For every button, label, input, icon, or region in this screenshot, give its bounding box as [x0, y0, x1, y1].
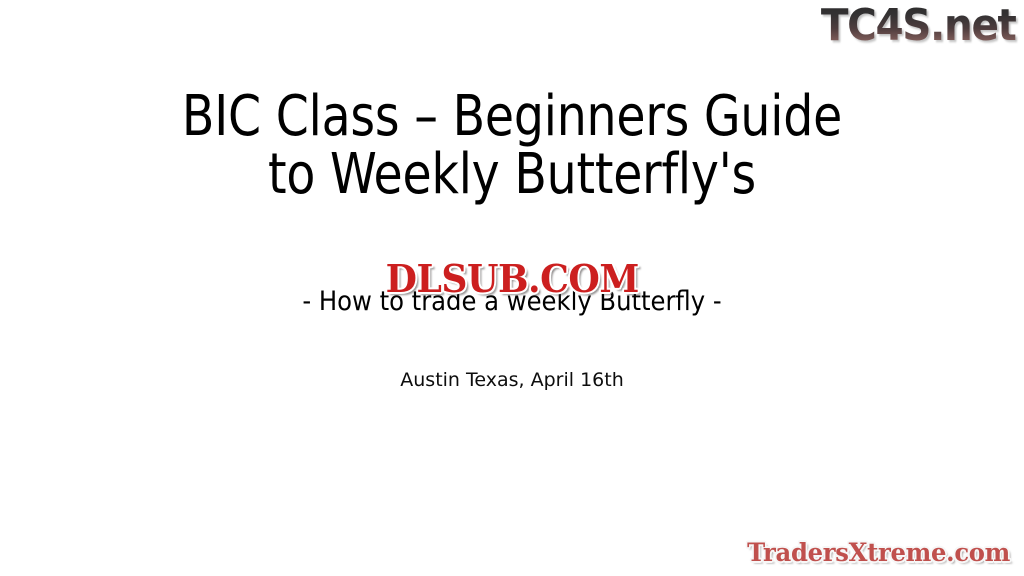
- dateline-text: Austin Texas, April 16th: [400, 369, 623, 391]
- subtitle-text: - How to trade a weekly Butterfly -: [302, 286, 721, 317]
- slide-subtitle: - How to trade a weekly Butterfly -: [0, 287, 1024, 317]
- title-line-1: BIC Class – Beginners Guide: [31, 88, 994, 146]
- brand-logo-tc4s: TC4S.net: [821, 1, 1016, 51]
- slide-title: BIC Class – Beginners Guide to Weekly Bu…: [0, 88, 1024, 204]
- title-line-2: to Weekly Butterfly's: [31, 146, 994, 204]
- presentation-slide: TC4S.net BIC Class – Beginners Guide to …: [0, 0, 1024, 576]
- slide-dateline: Austin Texas, April 16th: [0, 368, 1024, 392]
- watermark-tradersxtreme: TradersXtreme.com: [743, 538, 1014, 568]
- watermark-tradersxtreme-text: TradersXtreme.com: [747, 538, 1010, 568]
